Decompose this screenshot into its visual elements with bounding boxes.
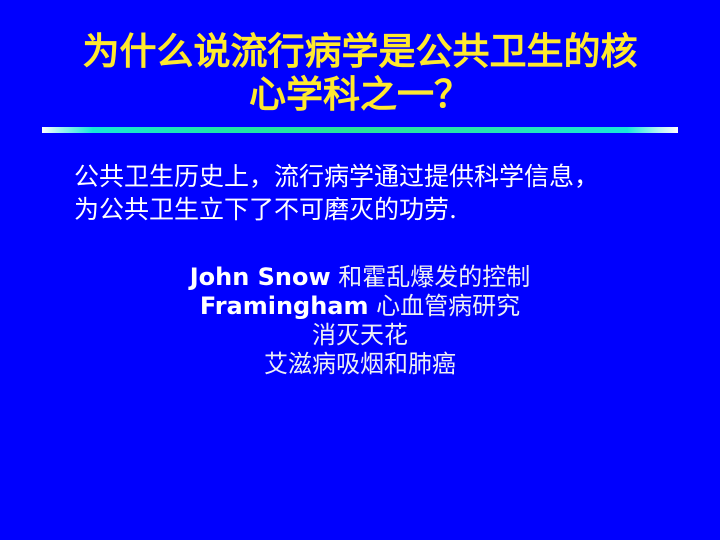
list-item-cn-label: 心血管病研究 <box>369 292 521 320</box>
slide-title-line-1: 为什么说流行病学是公共卫生的核 <box>0 30 720 73</box>
title-divider-rule <box>42 127 678 133</box>
slide-title: 为什么说流行病学是公共卫生的核 心学科之一？ <box>0 30 720 116</box>
slide-body-paragraph: 公共卫生历史上，流行病学通过提供科学信息， 为公共卫生立下了不可磨灭的功劳. <box>74 160 674 226</box>
list-item-en-label: Framingham <box>200 292 369 320</box>
list-item: 艾滋病吸烟和肺癌 <box>0 350 720 379</box>
body-line-2: 为公共卫生立下了不可磨灭的功劳. <box>74 193 674 226</box>
list-item-cn-label: 艾滋病吸烟和肺癌 <box>264 350 456 378</box>
list-item-cn-label: 和霍乱爆发的控制 <box>331 263 531 291</box>
list-item-cn-label: 消灭天花 <box>312 321 408 349</box>
list-item: 消灭天花 <box>0 321 720 350</box>
slide-title-line-2: 心学科之一？ <box>0 73 720 116</box>
slide-example-list: John Snow 和霍乱爆发的控制 Framingham 心血管病研究 消灭天… <box>0 263 720 379</box>
list-item: Framingham 心血管病研究 <box>0 292 720 321</box>
body-line-1: 公共卫生历史上，流行病学通过提供科学信息， <box>74 160 674 193</box>
list-item: John Snow 和霍乱爆发的控制 <box>0 263 720 292</box>
list-item-en-label: John Snow <box>190 263 331 291</box>
presentation-slide: 为什么说流行病学是公共卫生的核 心学科之一？ 公共卫生历史上，流行病学通过提供科… <box>0 0 720 540</box>
